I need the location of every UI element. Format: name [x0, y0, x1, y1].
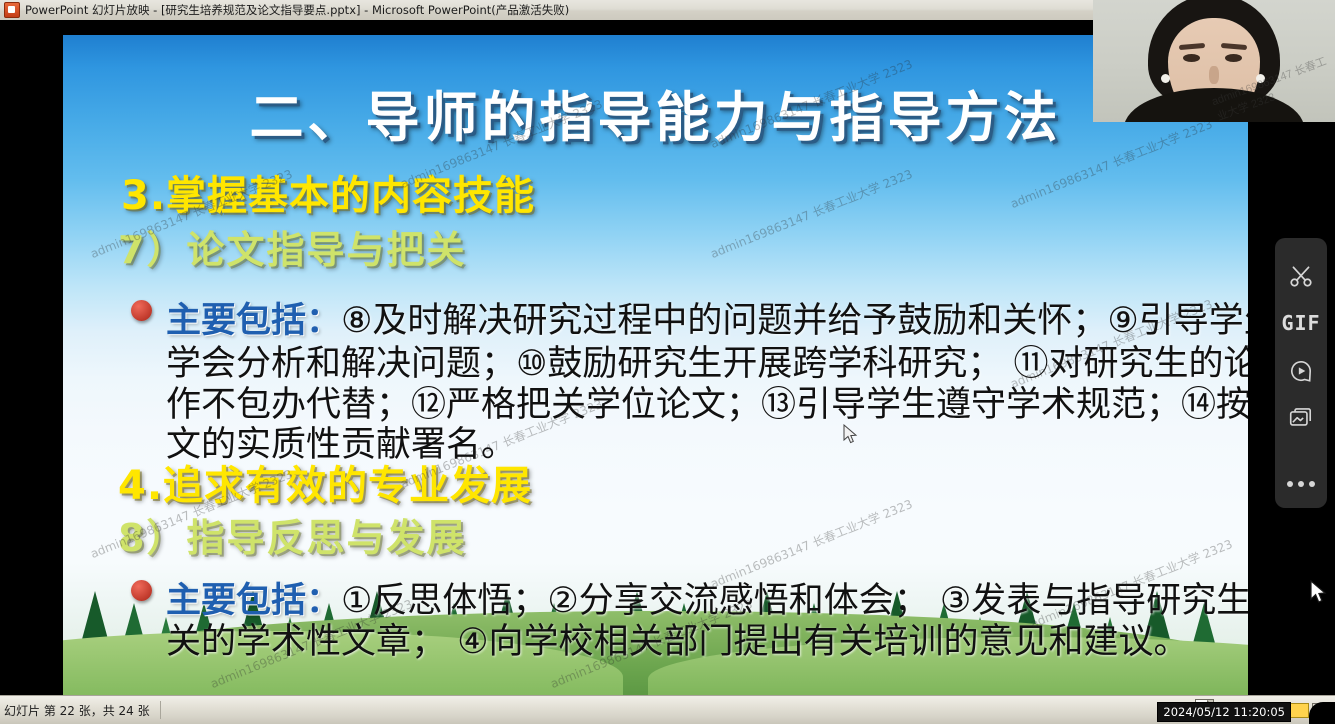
- webcam-overlay[interactable]: admin169863147 长春工业大学 2323: [1093, 0, 1335, 122]
- powerpoint-icon: [4, 2, 20, 18]
- heading-3: 3.掌握基本的内容技能: [121, 163, 535, 221]
- watermark: admin169863147 长春工业大学 2323: [708, 165, 915, 262]
- gif-icon[interactable]: GIF: [1279, 300, 1323, 348]
- statusbar: 幻灯片 第 22 张，共 24 张 ◀ ▶ 2024/05/12 11:20:0…: [0, 695, 1335, 724]
- screen-root: PowerPoint 幻灯片放映 - [研究生培养规范及论文指导要点.pptx]…: [0, 0, 1335, 724]
- heading-4: 4.追求有效的专业发展: [118, 453, 532, 511]
- subheading-8: 8）指导反思与发展: [118, 507, 466, 562]
- timestamp-tooltip: 2024/05/12 11:20:05: [1157, 702, 1291, 722]
- statusbar-corner: [1309, 702, 1335, 724]
- recorder-toolbar[interactable]: GIF: [1275, 238, 1327, 508]
- gif-label: GIF: [1281, 311, 1320, 335]
- screenshot-gallery-icon[interactable]: [1279, 395, 1323, 443]
- record-play-icon[interactable]: [1279, 347, 1323, 395]
- presenter-eye-left: [1183, 54, 1200, 62]
- presenter-eye-right: [1225, 54, 1242, 62]
- scissors-icon[interactable]: [1279, 252, 1323, 300]
- slide-counter: 幻灯片 第 22 张，共 24 张: [4, 702, 150, 719]
- bullet-icon: [131, 300, 152, 321]
- bullet-icon: [131, 580, 152, 601]
- presenter-nose: [1209, 66, 1219, 84]
- block-b-line-2: 关的学术性文章； ④向学校相关部门提出有关培训的意见和建议。: [166, 613, 1189, 664]
- subheading-7: 7）论文指导与把关: [118, 219, 466, 274]
- view-reading-button[interactable]: [1290, 703, 1309, 718]
- more-options-icon[interactable]: [1279, 460, 1323, 508]
- window-title: PowerPoint 幻灯片放映 - [研究生培养规范及论文指导要点.pptx]…: [25, 2, 569, 18]
- slide-title: 二、导师的指导能力与指导方法: [63, 73, 1248, 152]
- presenter-earring-left: [1161, 74, 1170, 83]
- more-dots: [1287, 481, 1315, 487]
- slide-canvas[interactable]: 二、导师的指导能力与指导方法 3.掌握基本的内容技能 7）论文指导与把关 主要包…: [63, 35, 1248, 695]
- statusbar-divider: [160, 701, 161, 719]
